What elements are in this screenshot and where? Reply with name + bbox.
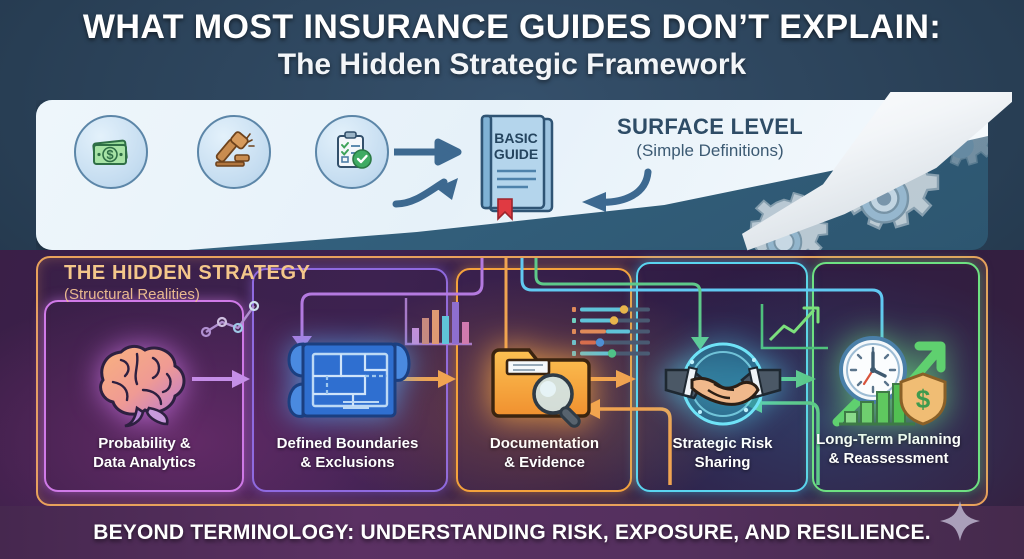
strategy-label-risk-sharing: Strategic Risk Sharing [630, 434, 815, 472]
strategy-label-boundaries: Defined Boundaries & Exclusions [255, 434, 440, 472]
book-icon: BASIC GUIDE [468, 113, 560, 225]
page-title: WHAT MOST INSURANCE GUIDES DON’T EXPLAIN… [0, 6, 1024, 84]
strategy-item-documentation[interactable]: Documentation & Evidence [452, 330, 637, 472]
curved-arrow-left-icon [562, 168, 654, 212]
strategy-item-boundaries[interactable]: Defined Boundaries & Exclusions [255, 330, 440, 472]
infographic-canvas: WHAT MOST INSURANCE GUIDES DON’T EXPLAIN… [0, 0, 1024, 559]
title-line-2: The Hidden Strategic Framework [0, 46, 1024, 84]
clipboard-check-icon [315, 115, 389, 189]
curved-arrow-right-icon [392, 168, 476, 208]
strategy-label-probability-l2: Data Analytics [52, 453, 237, 472]
strategy-label-probability-l1: Probability & [52, 434, 237, 453]
strategy-label-risk-sharing-l2: Sharing [630, 453, 815, 472]
folder-search-icon [452, 330, 637, 434]
surface-level-title: SURFACE LEVEL [585, 114, 835, 140]
surface-level-heading-group: SURFACE LEVEL (Simple Definitions) [585, 114, 835, 161]
sparkle-icon [938, 499, 982, 543]
book-title-line2: GUIDE [494, 146, 538, 162]
svg-text:$: $ [106, 147, 114, 162]
strategy-label-long-term-l2: & Reassessment [796, 449, 981, 468]
book-title-line1: BASIC [494, 130, 538, 146]
strategy-label-long-term: Long-Term Planning & Reassessment [796, 430, 981, 468]
strategy-item-probability[interactable]: Probability & Data Analytics [52, 330, 237, 472]
hidden-strategy-subtitle: (Structural Realities) [64, 286, 311, 303]
svg-text:$: $ [915, 384, 930, 414]
gavel-icon [197, 115, 271, 189]
hidden-strategy-title: THE HIDDEN STRATEGY [64, 262, 311, 285]
money-bills-icon: $ [74, 115, 148, 189]
surface-level-subtitle: (Simple Definitions) [585, 141, 835, 161]
strategy-label-probability: Probability & Data Analytics [52, 434, 237, 472]
gears-icon-secondary [736, 192, 832, 250]
handshake-icon [630, 330, 815, 434]
strategy-label-long-term-l1: Long-Term Planning [796, 430, 981, 449]
strategy-label-documentation: Documentation & Evidence [452, 434, 637, 472]
title-line-1: WHAT MOST INSURANCE GUIDES DON’T EXPLAIN… [0, 6, 1024, 48]
hidden-strategy-heading-group: THE HIDDEN STRATEGY (Structural Realitie… [64, 262, 311, 303]
arrow-right-icon [392, 138, 472, 166]
strategy-item-risk-sharing[interactable]: Strategic Risk Sharing [630, 330, 815, 472]
strategy-item-long-term[interactable]: $ Long-Term Planning & Reassessment [796, 326, 981, 468]
bottom-banner-text: BEYOND TERMINOLOGY: UNDERSTANDING RISK, … [93, 521, 931, 545]
strategy-label-boundaries-l2: & Exclusions [255, 453, 440, 472]
strategy-label-boundaries-l1: Defined Boundaries [255, 434, 440, 453]
bottom-banner: BEYOND TERMINOLOGY: UNDERSTANDING RISK, … [0, 506, 1024, 559]
clock-growth-shield-icon: $ [796, 326, 981, 430]
blueprint-icon [255, 330, 440, 434]
strategy-label-documentation-l1: Documentation [452, 434, 637, 453]
strategy-label-risk-sharing-l1: Strategic Risk [630, 434, 815, 453]
strategy-label-documentation-l2: & Evidence [452, 453, 637, 472]
brain-icon [52, 330, 237, 434]
